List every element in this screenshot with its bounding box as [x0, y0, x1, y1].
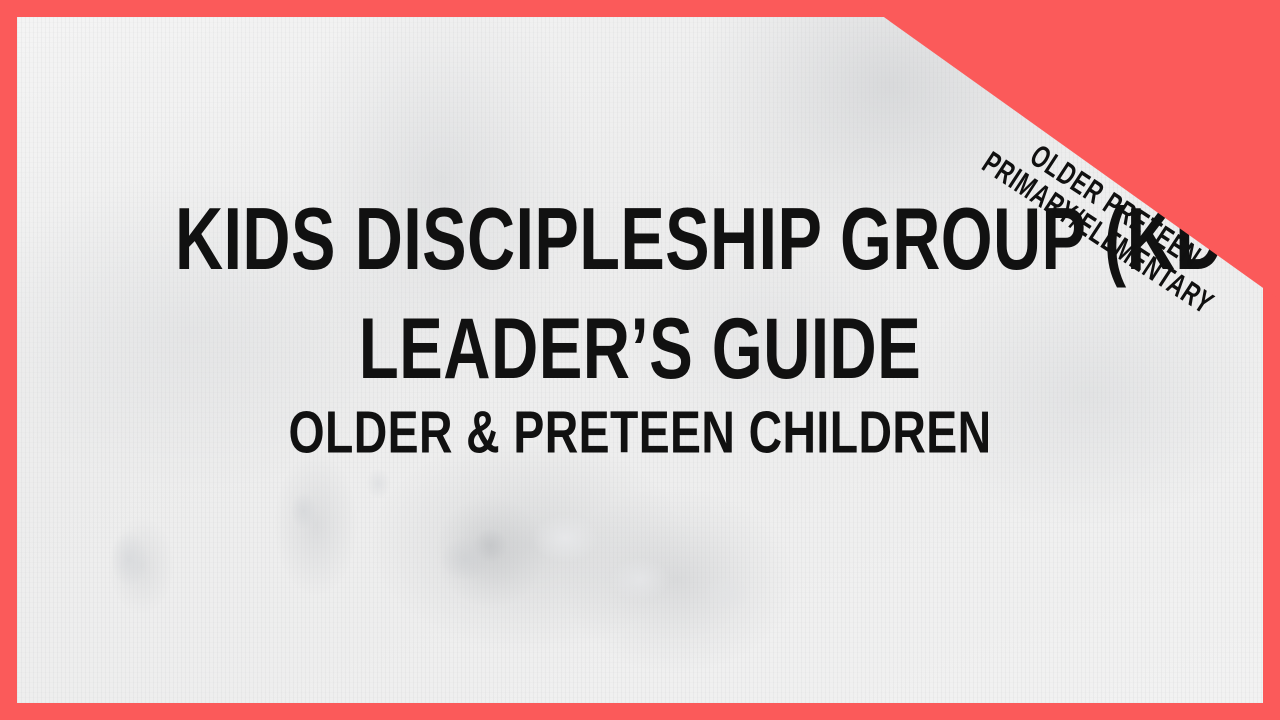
title-card-slide: KIDS DISCIPLESHIP GROUP (KDG) LEADER’S G…: [0, 0, 1280, 720]
audience-label: OLDER & PRETEEN CHILDREN: [160, 403, 1120, 462]
page-subtitle: LEADER’S GUIDE: [172, 305, 1108, 392]
corner-banner: OLDER PRETEEN PRIMARY/ELEMENTARY: [860, 0, 1280, 300]
